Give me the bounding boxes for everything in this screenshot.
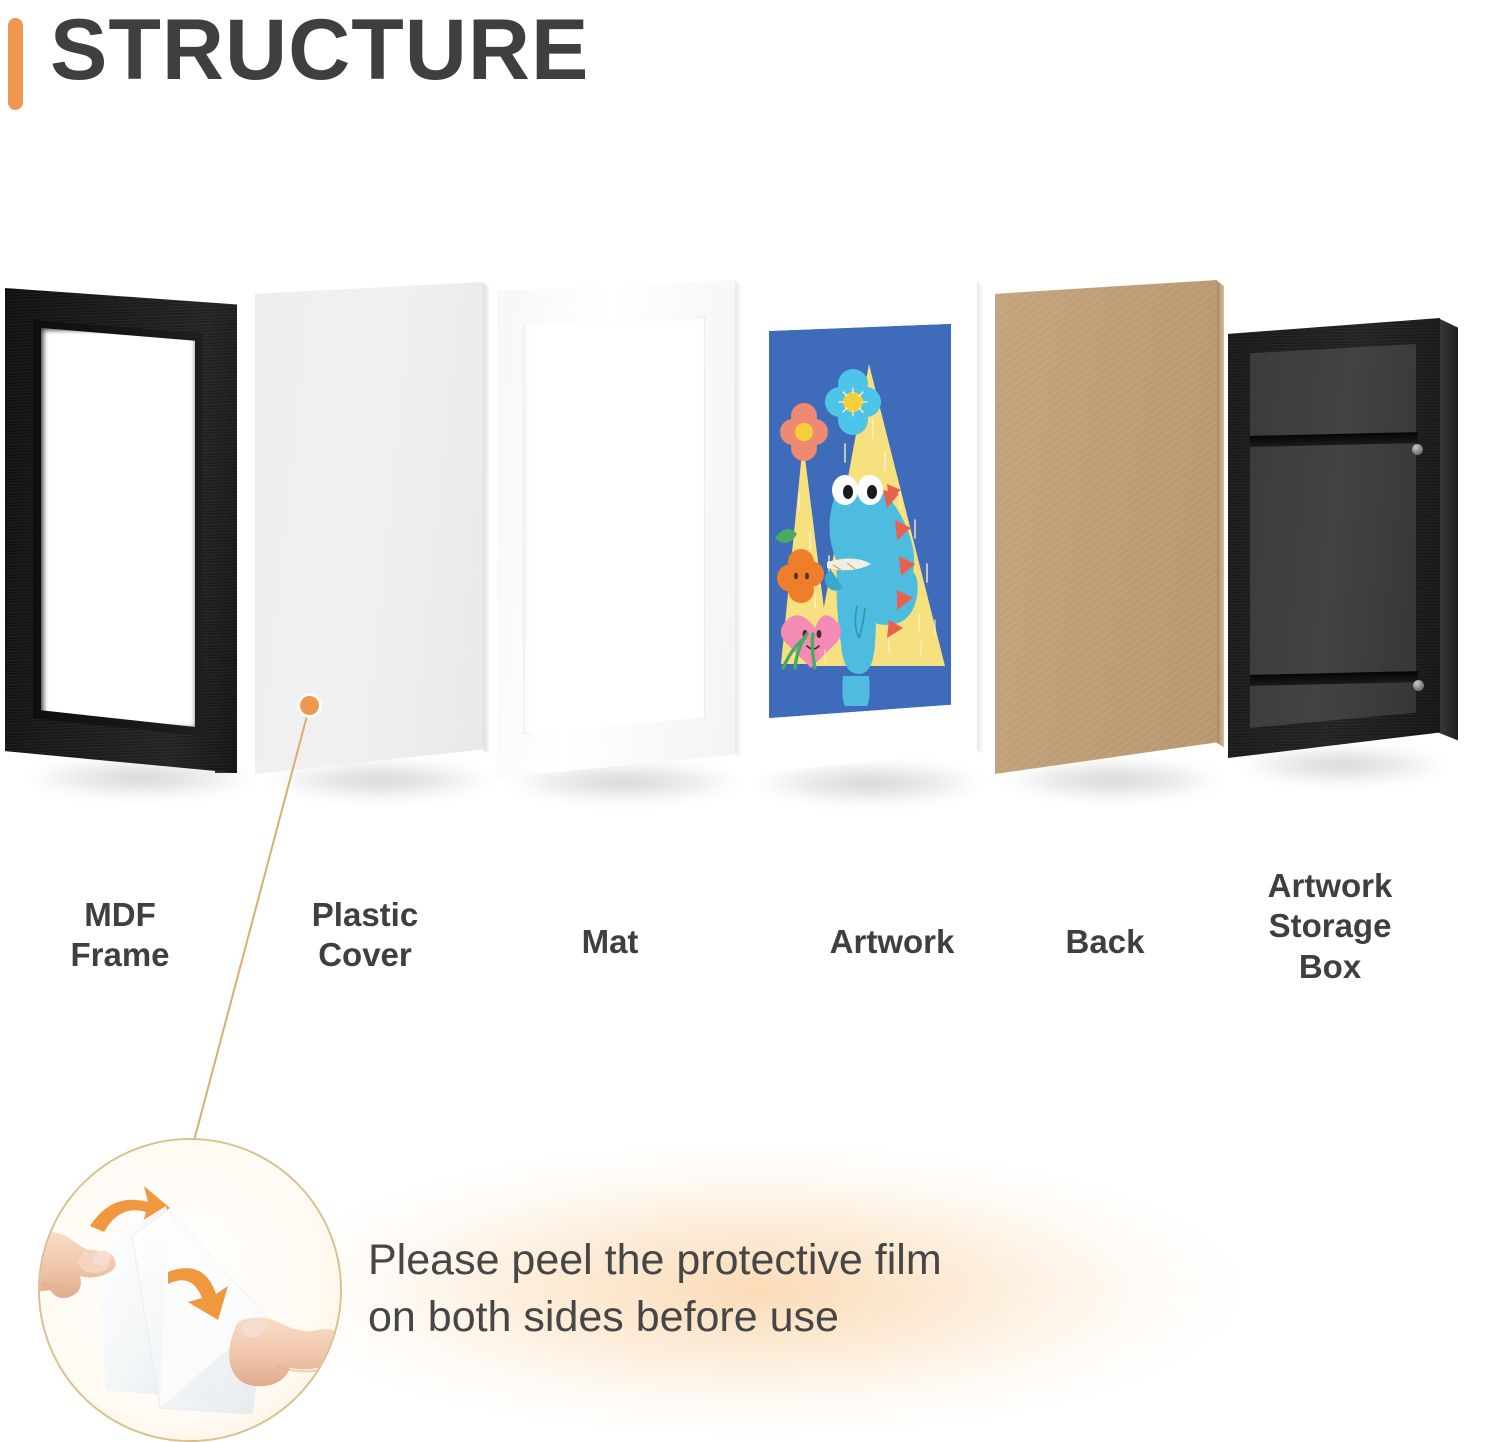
label-mat: Mat <box>508 922 712 962</box>
storage-box-pin-bottom <box>1413 680 1424 691</box>
caption-line-2: on both sides before use <box>368 1289 1198 1346</box>
layer-storage-box[interactable] <box>1228 318 1440 758</box>
label-mdf-frame: MDF Frame <box>20 895 220 976</box>
plastic-cover-side-edge <box>482 282 489 774</box>
storage-box-interior <box>1250 344 1416 728</box>
page-title: STRUCTURE <box>50 7 589 93</box>
storage-box-pin-top <box>1412 444 1423 455</box>
layer-artwork[interactable] <box>745 282 977 774</box>
dinosaur-drawing-svg <box>769 324 951 718</box>
label-plastic-cover: Plastic Cover <box>262 895 468 976</box>
layer-mdf-frame[interactable] <box>5 288 237 773</box>
caption-line-1: Please peel the protective film <box>368 1232 1198 1289</box>
label-artwork: Artwork <box>786 922 998 962</box>
layer-mat[interactable] <box>497 280 735 778</box>
back-side-edge <box>1216 280 1224 774</box>
layer-plastic-cover[interactable] <box>255 282 483 774</box>
plastic-cover-face <box>255 282 483 774</box>
storage-box-side-edge <box>1438 318 1458 758</box>
mat-side-edge <box>734 280 741 778</box>
peel-film-illustration-svg <box>40 1140 340 1440</box>
title-accent-bar <box>8 18 23 110</box>
layer-back[interactable] <box>995 280 1217 774</box>
label-storage-box: Artwork Storage Box <box>1222 866 1438 987</box>
label-back: Back <box>1030 922 1180 962</box>
artwork-side-edge <box>976 282 983 774</box>
diagram-canvas: STRUCTURE <box>0 0 1500 1438</box>
peel-film-inset <box>38 1138 342 1442</box>
mat-opening <box>523 316 705 734</box>
exploded-layers <box>0 270 1500 810</box>
mdf-frame-opening <box>41 328 195 727</box>
back-face <box>995 280 1217 774</box>
caption-block: Please peel the protective film on both … <box>368 1232 1198 1346</box>
callout-dot-plastic-cover[interactable] <box>300 696 319 715</box>
artwork-illustration <box>769 324 951 718</box>
